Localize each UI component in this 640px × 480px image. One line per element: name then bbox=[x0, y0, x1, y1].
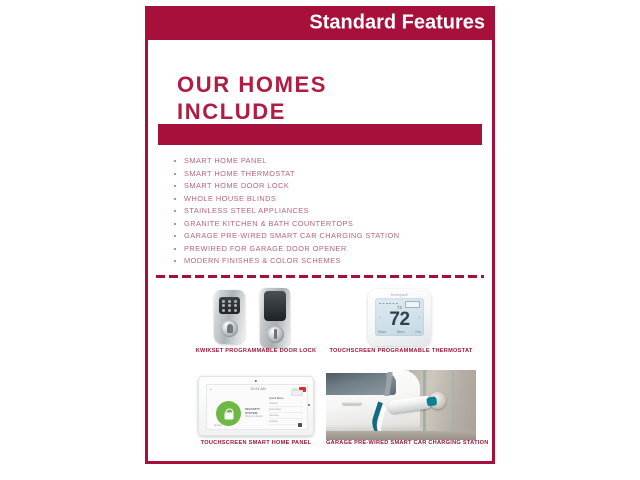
divider-bar bbox=[158, 124, 482, 145]
keypad-icon bbox=[219, 297, 240, 314]
panel-menu-header: Quick Menu bbox=[269, 397, 303, 400]
list-item: GARAGE PRE-WIRED SMART CAR CHARGING STAT… bbox=[170, 232, 480, 239]
product-caption: GARAGE PRE-WIRED SMART CAR CHARGING STAT… bbox=[326, 440, 476, 446]
header-band: Standard Features bbox=[145, 6, 495, 40]
list-item: SMART HOME PANEL bbox=[170, 157, 480, 164]
softkey-fan: Fan bbox=[416, 330, 422, 334]
softkey-menu: Menu bbox=[397, 330, 405, 334]
slide-canvas: Standard Features OUR HOMESINCLUDE SMART… bbox=[0, 0, 640, 480]
thermostat-image: Honeywell 72 ‹ › 72 Mode Menu bbox=[326, 288, 476, 348]
door-lock-image bbox=[186, 288, 326, 348]
panel-status-title: SECURITY SYSTEM bbox=[245, 407, 271, 415]
panel-clock: 10:24 AM bbox=[250, 387, 265, 391]
list-item: SMART HOME DOOR LOCK bbox=[170, 182, 480, 189]
panel-brand: Qolsys bbox=[214, 423, 223, 427]
panel-topbar-left: ● bbox=[210, 388, 212, 391]
car-charging-image bbox=[326, 370, 476, 440]
feature-list: SMART HOME PANEL SMART HOME THERMOSTAT S… bbox=[170, 157, 480, 270]
thermostat-temperature: 72 bbox=[375, 310, 424, 329]
panel-body: ● 10:24 AM bbox=[198, 376, 314, 436]
product-door-lock: KWIKSET PROGRAMMABLE DOOR LOCK bbox=[186, 288, 326, 356]
panel-side-button-icon bbox=[308, 404, 310, 406]
door-lock-deadbolt-unit bbox=[260, 288, 290, 348]
list-item: MODERN FINISHES & COLOR SCHEMES bbox=[170, 257, 480, 264]
list-item: SMART HOME THERMOSTAT bbox=[170, 170, 480, 177]
list-item: GRANITE KITCHEN & BATH COUNTERTOPS bbox=[170, 220, 480, 227]
panel-lock-small-icon bbox=[298, 423, 302, 428]
lock-knob-icon bbox=[221, 320, 238, 337]
plug-tip-icon bbox=[426, 396, 437, 406]
padlock-glyph bbox=[224, 408, 233, 419]
panel-quick-menu: Quick Menu Security Automation Cameras S… bbox=[269, 397, 303, 425]
menu-label: Cameras bbox=[269, 414, 279, 417]
content-card: OUR HOMESINCLUDE SMART HOME PANEL SMART … bbox=[145, 40, 495, 464]
lock-thumbturn-icon bbox=[267, 326, 284, 343]
menu-label: Security bbox=[269, 402, 278, 405]
wall-seam-secondary bbox=[452, 370, 454, 440]
product-caption: TOUCHSCREEN PROGRAMMABLE THERMOSTAT bbox=[326, 348, 476, 354]
product-caption: TOUCHSCREEN SMART HOME PANEL bbox=[186, 440, 326, 446]
door-lock-keypad-unit bbox=[214, 290, 245, 344]
smart-home-panel-image: ● 10:24 AM bbox=[186, 370, 326, 440]
softkey-mode: Mode bbox=[378, 330, 386, 334]
thermostat-brand: Honeywell bbox=[368, 293, 431, 297]
camera-icon bbox=[255, 380, 257, 382]
lock-touchscreen-face bbox=[264, 291, 286, 321]
menu-label: Automation bbox=[269, 408, 281, 411]
menu-label: Settings bbox=[269, 420, 278, 423]
dashed-separator bbox=[156, 275, 484, 278]
list-item: WHOLE HOUSE BLINDS bbox=[170, 195, 480, 202]
panel-chip-icon bbox=[291, 390, 303, 396]
panel-screen: ● 10:24 AM bbox=[206, 384, 308, 430]
product-smart-home-panel: ● 10:24 AM bbox=[186, 370, 326, 448]
product-thermostat: Honeywell 72 ‹ › 72 Mode Menu bbox=[326, 288, 476, 356]
thermostat-softkeys: Mode Menu Fan bbox=[378, 330, 421, 334]
panel-status-text: SECURITY SYSTEM Disarmed Ready bbox=[245, 407, 271, 418]
ground-strip bbox=[326, 431, 476, 440]
product-car-charging-station: GARAGE PRE-WIRED SMART CAR CHARGING STAT… bbox=[326, 370, 476, 448]
thermostat-body: Honeywell 72 ‹ › 72 Mode Menu bbox=[368, 289, 431, 346]
car-door-handle bbox=[342, 401, 362, 405]
product-caption: KWIKSET PROGRAMMABLE DOOR LOCK bbox=[186, 348, 326, 354]
page-title: Standard Features bbox=[309, 12, 485, 35]
list-item: STAINLESS STEEL APPLIANCES bbox=[170, 207, 480, 214]
headline: OUR HOMESINCLUDE bbox=[177, 72, 427, 126]
list-item: PREWIRED FOR GARAGE DOOR OPENER bbox=[170, 245, 480, 252]
thermostat-screen: 72 ‹ › 72 Mode Menu Fan bbox=[375, 298, 424, 336]
panel-status-sub: Disarmed Ready bbox=[245, 415, 271, 418]
